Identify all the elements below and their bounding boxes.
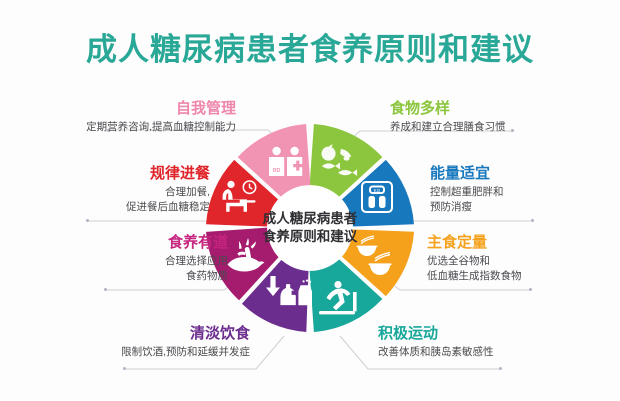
leader-dot: [86, 219, 89, 222]
center-line-1: 成人糖尿病患者: [240, 210, 380, 228]
wheel-center-text: 成人糖尿病患者 食养原则和建议: [240, 210, 380, 246]
label-desc-2: 促进餐后血糖稳定: [0, 200, 210, 215]
label-light-diet[interactable]: 清淡饮食 限制饮酒,预防和延缓并发症: [0, 325, 250, 360]
label-desc-2: 食药物质: [0, 269, 228, 284]
label-desc-1: 合理选择应用: [0, 254, 228, 269]
label-heading: 规律进餐: [0, 165, 210, 182]
label-heading: 食物多样: [390, 100, 620, 117]
leader-dot: [123, 367, 126, 370]
center-line-2: 食养原则和建议: [240, 228, 380, 246]
svg-text:KG: KG: [374, 188, 381, 193]
label-desc-1: 限制饮酒,预防和延缓并发症: [0, 345, 250, 360]
label-desc-1: 优选全谷物和: [427, 254, 620, 269]
label-desc-1: 定期营养咨询,提高血糖控制能力: [0, 120, 236, 135]
leader-dot: [104, 288, 107, 291]
principles-wheel: KG: [190, 108, 430, 348]
leader-dot: [499, 367, 502, 370]
label-self-management[interactable]: 自我管理 定期营养咨询,提高血糖控制能力: [0, 100, 236, 135]
label-staple-food[interactable]: 主食定量 优选全谷物和 低血糖生成指数食物: [427, 234, 620, 285]
label-desc-1: 养成和建立合理膳食习惯: [390, 120, 620, 135]
label-dietary-therapy[interactable]: 食养有道 合理选择应用 食药物质: [0, 234, 228, 285]
label-heading: 自我管理: [0, 100, 236, 117]
label-active-exercise[interactable]: 积极运动 改善体质和胰岛素敏感性: [378, 325, 620, 360]
label-heading: 主食定量: [427, 234, 620, 251]
label-heading: 能量适宜: [430, 165, 620, 182]
label-heading: 清淡饮食: [0, 325, 250, 342]
svg-text:RD: RD: [273, 168, 281, 174]
label-energy-appropriate[interactable]: 能量适宜 控制超重肥胖和 预防消瘦: [430, 165, 620, 216]
label-food-variety[interactable]: 食物多样 养成和建立合理膳食习惯: [390, 100, 620, 135]
label-heading: 积极运动: [378, 325, 620, 342]
infographic-canvas: 成人糖尿病患者食养原则和建议: [0, 0, 620, 401]
label-heading: 食养有道: [0, 234, 228, 251]
label-desc-1: 合理加餐,: [0, 185, 210, 200]
label-regular-meals[interactable]: 规律进餐 合理加餐, 促进餐后血糖稳定: [0, 165, 210, 216]
label-desc-1: 控制超重肥胖和: [430, 185, 620, 200]
leader-dot: [529, 288, 532, 291]
leader-dot: [531, 219, 534, 222]
label-desc-2: 低血糖生成指数食物: [427, 269, 620, 284]
label-desc-2: 预防消瘦: [430, 200, 620, 215]
label-desc-1: 改善体质和胰岛素敏感性: [378, 345, 620, 360]
